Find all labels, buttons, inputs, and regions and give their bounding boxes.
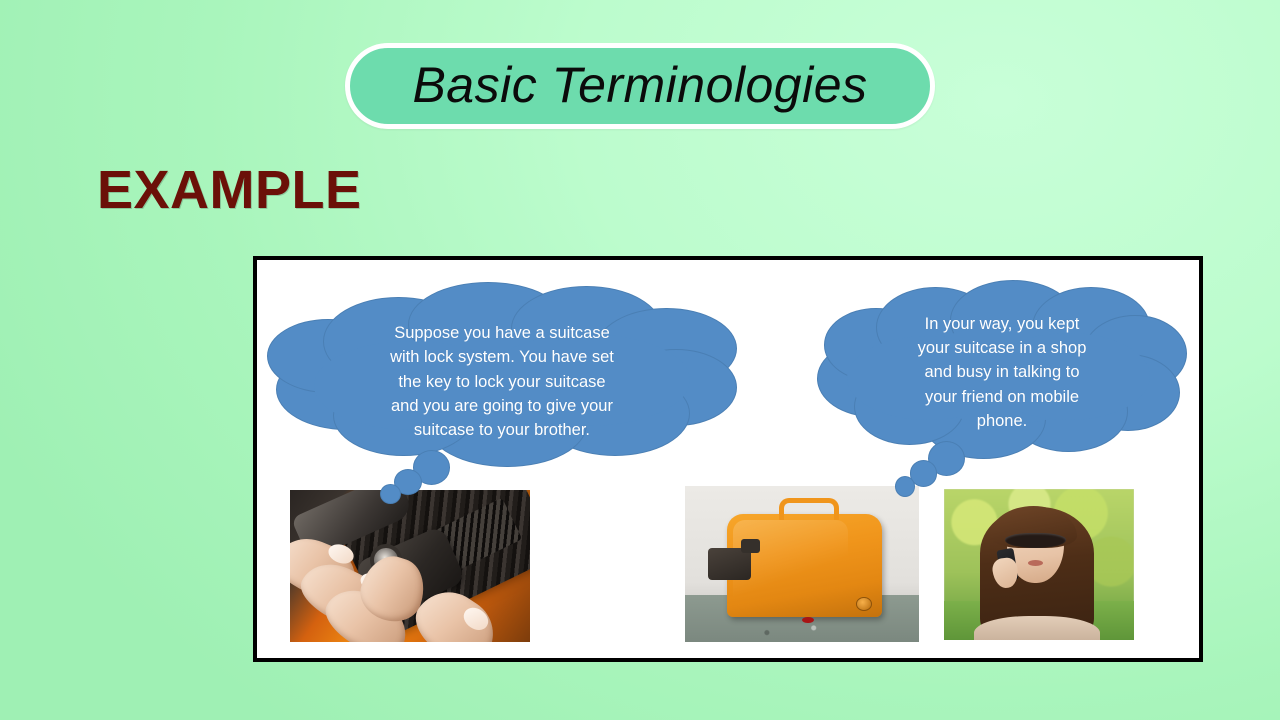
- bubble-left-text: Suppose you have a suitcase with lock sy…: [300, 321, 704, 443]
- photo-woman-on-phone: [944, 489, 1134, 640]
- slide-title-pill: Basic Terminologies: [345, 43, 935, 129]
- photo-woman-art: [944, 489, 1134, 640]
- content-frame: Suppose you have a suitcase with lock sy…: [253, 256, 1203, 662]
- slide-canvas: Basic Terminologies EXAMPLE: [0, 0, 1280, 720]
- photo-suitcase-lock: [290, 490, 530, 642]
- photo-lock-art: [290, 490, 530, 642]
- thought-bubble-left: Suppose you have a suitcase with lock sy…: [267, 282, 737, 467]
- slide-title-text: Basic Terminologies: [412, 60, 867, 110]
- frame-inner: Suppose you have a suitcase with lock sy…: [257, 260, 1199, 658]
- bubble-right-text: In your way, you kept your suitcase in a…: [854, 312, 1150, 434]
- thought-bubble-right: In your way, you kept your suitcase in a…: [817, 280, 1187, 455]
- photo-orange-suitcase: [685, 486, 919, 642]
- page-title: EXAMPLE: [97, 161, 362, 220]
- photo-suitcase-art: [685, 486, 919, 642]
